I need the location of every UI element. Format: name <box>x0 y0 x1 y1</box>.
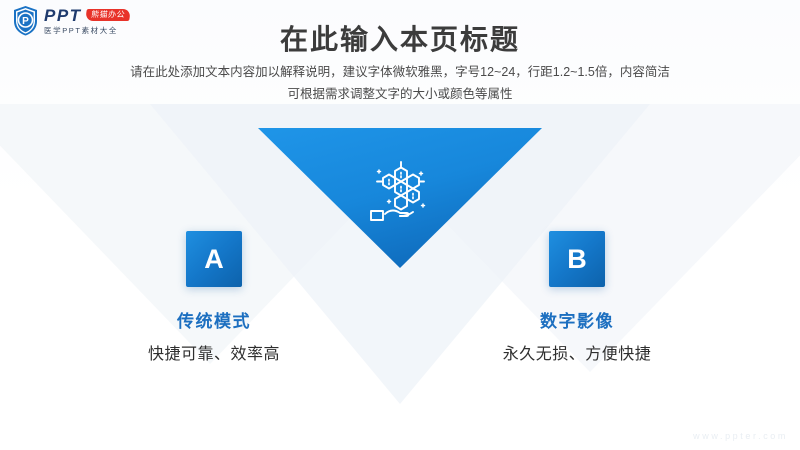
item-letter-b: B <box>567 246 587 273</box>
item-title-b: 数字影像 <box>417 310 737 334</box>
item-box-a[interactable]: A <box>186 231 242 287</box>
molecule-on-hand-icon <box>363 156 437 228</box>
item-desc-a: 快捷可靠、效率高 <box>54 344 374 366</box>
item-title-a: 传统模式 <box>54 310 374 334</box>
item-box-b[interactable]: B <box>549 231 605 287</box>
subtitle-line-2: 可根据需求调整文字的大小或颜色等属性 <box>0 84 800 106</box>
item-caption-a: 传统模式 快捷可靠、效率高 <box>54 310 374 366</box>
logo-badge: 熊猫办公 <box>85 9 131 21</box>
slide-canvas: P PPT 熊猫办公 医学PPT素材大全 在此输入本页标题 请在此处添加文本内容… <box>0 0 800 450</box>
brand-logo[interactable]: P PPT 熊猫办公 医学PPT素材大全 <box>12 5 130 36</box>
item-letter-a: A <box>204 246 224 273</box>
logo-brand-text: PPT <box>44 7 82 24</box>
logo-text-block: PPT 熊猫办公 医学PPT素材大全 <box>44 7 130 35</box>
logo-tagline: 医学PPT素材大全 <box>44 27 130 35</box>
item-desc-b: 永久无损、方便快捷 <box>417 344 737 366</box>
page-subtitle: 请在此处添加文本内容加以解释说明，建议字体微软雅黑，字号12~24，行距1.2~… <box>0 62 800 106</box>
subtitle-line-1: 请在此处添加文本内容加以解释说明，建议字体微软雅黑，字号12~24，行距1.2~… <box>0 62 800 84</box>
shield-icon: P <box>12 5 39 36</box>
site-watermark: www.ppter.com <box>693 431 788 441</box>
svg-text:P: P <box>22 16 29 27</box>
item-caption-b: 数字影像 永久无损、方便快捷 <box>417 310 737 366</box>
